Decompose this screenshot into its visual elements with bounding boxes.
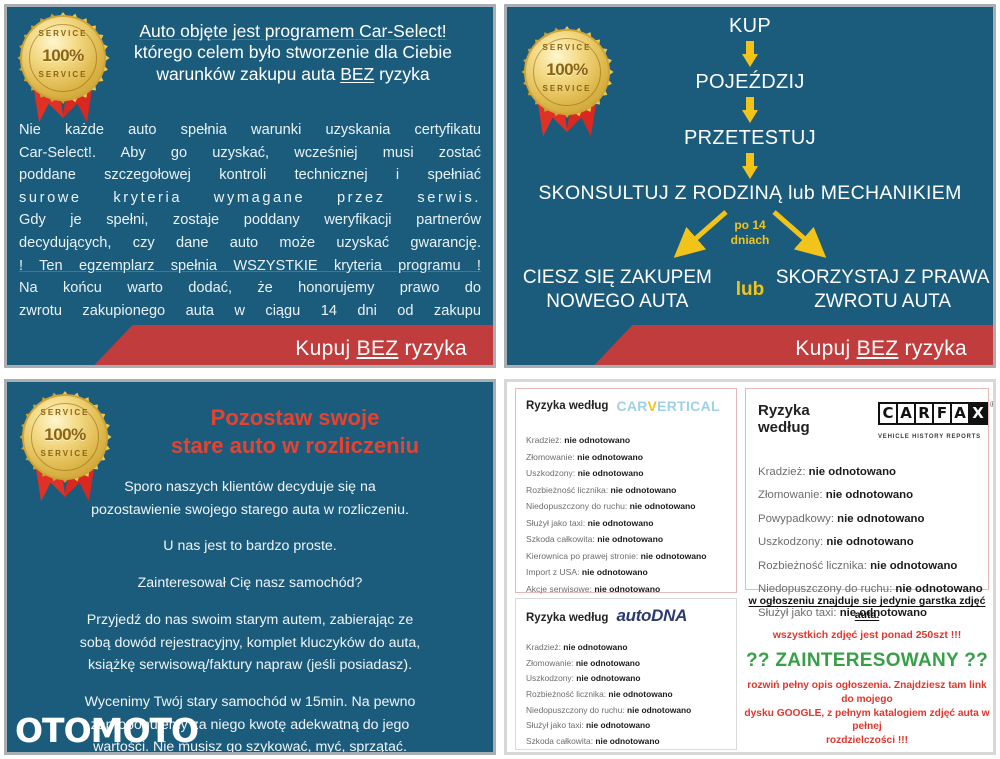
flow-branch: po 14 dniach [507, 206, 993, 266]
carfax-logo: C A R F A X ® VEHICLE HISTORY REPORTS [878, 402, 988, 443]
risk-row: Akcje serwisowe: nie odnotowano [526, 581, 736, 598]
seal-arc-bottom-label: SERVICE [17, 449, 113, 458]
risk-row-label: Służył jako taxi [526, 518, 583, 528]
risk-row: Uszkodzony: nie odnotowano [526, 465, 736, 482]
ribbon-text-emphasis: BEZ [857, 337, 899, 360]
program-headline: Auto objęte jest programem Car-Select! k… [103, 21, 483, 85]
carfax-letter: X [970, 404, 986, 423]
risk-row-label: Rozbieżność licznika [526, 689, 604, 699]
headline-line-1: Auto objęte jest programem Car-Select! [103, 21, 483, 42]
body-line-1: Nie każde auto spełnia warunki uzyskania… [19, 119, 481, 142]
risk-row-value: nie odnotowano [870, 560, 957, 572]
headline-line-3-pre: warunków zakupu auta [156, 64, 340, 84]
seal-percent-label: 100% [15, 46, 111, 66]
outcome-left-line-1: CIESZ SIĘ ZAKUPEM [507, 266, 728, 289]
trade-in-title-line-1: Pozostaw swoje [107, 404, 483, 432]
flow-outcomes: CIESZ SIĘ ZAKUPEM NOWEGO AUTA lub SKORZY… [507, 266, 993, 312]
risk-row-label: Złomowanie [758, 489, 819, 501]
arrow-down-icon [742, 41, 758, 67]
risk-row: Rozbieżność licznika: nie odnotowano [526, 687, 736, 703]
seal-arc-bottom-label: SERVICE [15, 70, 111, 79]
risk-row: Rozbieżność licznika: nie odnotowano [758, 555, 988, 578]
flow-step-1: KUP [507, 15, 993, 37]
risk-row-label: Kradzież [526, 435, 559, 445]
risk-row: Powypadkowy: nie odnotowano [758, 508, 988, 531]
arrow-down-icon [742, 153, 758, 179]
trade-in-para-4: Przyjedź do nas swoim starym autem, zabi… [21, 609, 479, 677]
outcome-conjunction: lub [736, 279, 765, 301]
ribbon-text: Kupuj BEZ ryzyka [795, 337, 967, 361]
panel-trade-in: SERVICE 100% SERVICE Pozostaw swoje star… [4, 379, 496, 755]
risk-row: Szkoda całkowita: nie odnotowano [526, 531, 736, 548]
carfax-heading-label: Ryzyka według [758, 402, 856, 436]
risk-row-label: Kierownica po prawej stronie [526, 551, 636, 561]
panel-car-select-program: SERVICE 100% SERVICE Auto objęte jest pr… [4, 4, 496, 368]
risk-row-value: nie odnotowano [586, 720, 650, 730]
risk-row-value: nie odnotowano [577, 452, 643, 462]
trade-in-title-line-2: stare auto w rozliczeniu [107, 432, 483, 460]
carvertical-heading-label: Ryzyka według [526, 400, 608, 412]
risk-row-value: nie odnotowano [576, 673, 640, 683]
risk-row-label: Niedopuszczony do ruchu [526, 705, 622, 715]
flow-diagram: KUP POJEŹDZIJ PRZETESTUJ SKONSULTUJ Z RO… [507, 15, 993, 313]
risk-row: Kierownica po prawej stronie: nie odnoto… [526, 548, 736, 565]
risk-row-label: Uszkodzony [526, 673, 572, 683]
outcome-left: CIESZ SIĘ ZAKUPEM NOWEGO AUTA [507, 266, 728, 312]
autodna-logo: autoDNA [616, 606, 687, 626]
arrow-down-icon [742, 97, 758, 123]
trade-in-para-1-line-2: pozostawienie swojego starego auta w roz… [91, 502, 409, 518]
risk-row-label: Szkoda całkowita [526, 534, 592, 544]
trade-in-para-5-line-1: Wycenimy Twój stary samochód w 15min. Na… [85, 694, 416, 710]
risk-row-value: nie odnotowano [597, 534, 663, 544]
body-line-6: decydujących, czy dane auto może uzyskać… [19, 232, 481, 255]
risk-row-label: Uszkodzony [526, 468, 573, 478]
risk-row-label: Błąd cyfry kontrolnej w numerze VIN [526, 751, 661, 755]
body-line-7: ! Ten egzemplarz spełnia WSZYSTKIE kryte… [19, 255, 481, 278]
autodna-risk-card: Ryzyka według autoDNA Kradzież: nie odno… [515, 598, 737, 750]
flow-step-3: PRZETESTUJ [507, 127, 993, 149]
ribbon-text-pre: Kupuj [795, 337, 856, 360]
risk-row-label: Rozbieżność licznika [526, 485, 606, 495]
body-line-2: Car-Select!. Aby go uzyskać, wcześniej m… [19, 142, 481, 165]
branch-note-line-2: dniach [731, 233, 770, 248]
risk-row-label: Akcje serwisowe [526, 584, 590, 594]
autodna-card-header: Ryzyka według autoDNA [516, 599, 736, 626]
risk-row: Rozbieżność licznika: nie odnotowano [526, 482, 736, 499]
risk-row-value: nie odnotowano [608, 689, 672, 699]
headline-line-3-emphasis: BEZ [340, 64, 374, 84]
trade-in-para-1: Sporo naszych klientów decyduje się na p… [21, 476, 479, 521]
ribbon-text-post: ryzyka [898, 337, 967, 360]
panel-vehicle-history-reports: Ryzyka według CARVERTICAL Kradzież: nie … [504, 379, 996, 755]
promo-underlined-line: w ogłoszeniu znajduje sie jedynie garstk… [743, 594, 991, 622]
carvertical-risk-rows: Kradzież: nie odnotowano Złomowanie: nie… [516, 414, 736, 597]
risk-row: Niedopuszczony do ruchu: nie odnotowano [526, 703, 736, 719]
risk-row: Kradzież: nie odnotowano [526, 640, 736, 656]
advert-collage: SERVICE 100% SERVICE Auto objęte jest pr… [0, 0, 1000, 759]
panel-purchase-flow: SERVICE 100% SERVICE KUP POJEŹDZIJ PRZET… [504, 4, 996, 368]
risk-row-label: Powypadkowy [758, 513, 831, 525]
photos-promo-block: w ogłoszeniu znajduje sie jedynie garstk… [743, 594, 991, 755]
ribbon-text-post: ryzyka [398, 337, 467, 360]
carvertical-logo-part-2: V [647, 398, 657, 414]
carfax-logo-subtitle: VEHICLE HISTORY REPORTS [878, 434, 981, 440]
promo-description-line-1: rozwiń pełny opis ogłoszenia. Znajdziesz… [747, 680, 986, 705]
risk-row-label: Służył jako taxi [526, 720, 581, 730]
headline-line-3-post: ryzyka [374, 64, 429, 84]
flow-step-2: POJEŹDZIJ [507, 71, 993, 93]
carvertical-logo-part-3: ERTICAL [657, 398, 720, 414]
outcome-right-line-2: ZWROTU AUTA [772, 290, 993, 313]
outcome-right: SKORZYSTAJ Z PRAWA ZWROTU AUTA [772, 266, 993, 312]
branch-note: po 14 dniach [731, 218, 770, 248]
risk-row-value: nie odnotowano [809, 466, 896, 478]
carfax-letter: R [916, 404, 932, 423]
risk-row-value: nie odnotowano [627, 705, 691, 715]
risk-row: Kradzież: nie odnotowano [526, 432, 736, 449]
risk-row-value: nie odnotowano [594, 584, 660, 594]
trade-in-para-3: Zainteresował Cię nasz samochód? [21, 572, 479, 595]
risk-row: Błąd cyfry kontrolnej w numerze VIN: nie… [526, 749, 736, 755]
risk-row-value: nie odnotowano [564, 435, 630, 445]
risk-row: Złomowanie: nie odnotowano [526, 449, 736, 466]
seal-arc-top-label: SERVICE [15, 29, 111, 38]
buy-without-risk-ribbon: Kupuj BEZ ryzyka [507, 325, 993, 365]
risk-row-label: Uszkodzony [758, 536, 820, 548]
carvertical-logo-part-1: CAR [616, 398, 647, 414]
otomoto-watermark: OTOMOTO [15, 711, 198, 750]
carfax-letter: A [898, 404, 914, 423]
trade-in-para-1-line-1: Sporo naszych klientów decyduje się na [124, 479, 376, 495]
carvertical-logo: CARVERTICAL [616, 398, 719, 414]
body-line-4: surowe kryteria wymagane przez serwis. [19, 187, 481, 210]
risk-row-value: nie odnotowano [641, 551, 707, 561]
trade-in-title: Pozostaw swoje stare auto w rozliczeniu [107, 404, 483, 459]
body-line-8: Na końcu warto dodać, że honorujemy praw… [19, 277, 481, 300]
trade-in-para-2: U nas jest to bardzo proste. [21, 535, 479, 558]
promo-description-line-3: rozdzielczości !!! [826, 735, 908, 746]
carfax-risk-card: Ryzyka według C A R F A X ® VEHICLE HIST… [745, 388, 989, 590]
risk-row-label: Złomowanie [526, 452, 572, 462]
risk-row-value: nie odnotowano [578, 468, 644, 478]
buy-without-risk-ribbon: Kupuj BEZ ryzyka [7, 325, 493, 365]
risk-row: Uszkodzony: nie odnotowano [526, 671, 736, 687]
risk-row-value: nie odnotowano [588, 518, 654, 528]
promo-photo-count: wszystkich zdjęć jest ponad 250szt !!! [743, 628, 991, 642]
carvertical-risk-card: Ryzyka według CARVERTICAL Kradzież: nie … [515, 388, 737, 593]
risk-row-value: nie odnotowano [837, 513, 924, 525]
promo-description-line-2: dysku GOOGLE, z pełnym katalogiem zdjęć … [744, 708, 989, 733]
headline-line-2: którego celem było stworzenie dla Ciebie [103, 42, 483, 63]
carfax-letter: F [934, 404, 950, 423]
risk-row-value: nie odnotowano [582, 567, 648, 577]
trade-in-para-4-line-1: Przyjedź do nas swoim starym autem, zabi… [87, 612, 413, 628]
carfax-letter: A [952, 404, 968, 423]
risk-row-value: nie odnotowano [563, 642, 627, 652]
body-line-9: zwrotu zakupionego auta w ciągu 14 dni o… [19, 300, 481, 323]
carvertical-card-header: Ryzyka według CARVERTICAL [516, 389, 736, 414]
headline-line-3: warunków zakupu auta BEZ ryzyka [103, 64, 483, 85]
risk-row: Import z USA: nie odnotowano [526, 564, 736, 581]
risk-row-value: nie odnotowano [826, 536, 913, 548]
risk-row-label: Złomowanie [526, 658, 571, 668]
risk-row: Kradzież: nie odnotowano [758, 461, 988, 484]
risk-row-value: nie odnotowano [595, 736, 659, 746]
promo-interested-heading: ?? ZAINTERESOWANY ?? [743, 648, 991, 674]
risk-row-label: Import z USA [526, 567, 577, 577]
risk-row-label: Rozbieżność licznika [758, 560, 864, 572]
risk-row-label: Niedopuszczony do ruchu [526, 501, 625, 511]
risk-row: Służył jako taxi: nie odnotowano [526, 718, 736, 734]
risk-row: Złomowanie: nie odnotowano [526, 656, 736, 672]
risk-row-label: Kradzież [758, 466, 802, 478]
autodna-risk-rows: Kradzież: nie odnotowano Złomowanie: nie… [516, 626, 736, 755]
seal-percent-label: 100% [17, 425, 113, 445]
carfax-card-header: Ryzyka według C A R F A X ® VEHICLE HIST… [746, 389, 988, 443]
risk-row: Służył jako taxi: nie odnotowano [526, 515, 736, 532]
seal-arc-top-label: SERVICE [17, 408, 113, 417]
outcome-left-line-2: NOWEGO AUTA [507, 290, 728, 313]
autodna-heading-label: Ryzyka według [526, 612, 608, 624]
risk-row: Niedopuszczony do ruchu: nie odnotowano [526, 498, 736, 515]
body-line-3: poddane szczegołowej kontroli techniczne… [19, 164, 481, 187]
trade-in-para-4-line-2: sobą dowód rejestracyjny, komplet kluczy… [80, 635, 420, 651]
ribbon-text-pre: Kupuj [295, 337, 356, 360]
risk-row-value: nie odnotowano [666, 751, 730, 755]
risk-row-label: Szkoda całkowita [526, 736, 591, 746]
carfax-letter: C [880, 404, 896, 423]
program-body-copy: Nie każde auto spełnia warunki uzyskania… [19, 119, 481, 322]
risk-row-label: Kradzież [526, 642, 559, 652]
registered-mark-icon: ® [990, 400, 996, 409]
body-line-5: Gdy je spełni, zostaje poddany weryfikac… [19, 209, 481, 232]
risk-row-value: nie odnotowano [611, 485, 677, 495]
risk-row-value: nie odnotowano [576, 658, 640, 668]
ribbon-text: Kupuj BEZ ryzyka [295, 337, 467, 361]
trade-in-para-4-line-3: książkę serwisową/faktury napraw (jeśli … [88, 657, 412, 673]
service-seal-badge: SERVICE 100% SERVICE [15, 13, 111, 125]
risk-row: Złomowanie: nie odnotowano [758, 484, 988, 507]
flow-step-4: SKONSULTUJ Z RODZINĄ lub MECHANIKIEM [507, 183, 993, 204]
risk-row: Uszkodzony: nie odnotowano [758, 531, 988, 554]
risk-row-value: nie odnotowano [630, 501, 696, 511]
promo-description-para: rozwiń pełny opis ogłoszenia. Znajdziesz… [743, 679, 991, 748]
carfax-logo-letters: C A R F A X [878, 402, 988, 425]
branch-note-line-1: po 14 [731, 218, 770, 233]
ribbon-text-emphasis: BEZ [357, 337, 399, 360]
risk-row-value: nie odnotowano [826, 489, 913, 501]
risk-row: Szkoda całkowita: nie odnotowano [526, 734, 736, 750]
outcome-right-line-1: SKORZYSTAJ Z PRAWA [772, 266, 993, 289]
